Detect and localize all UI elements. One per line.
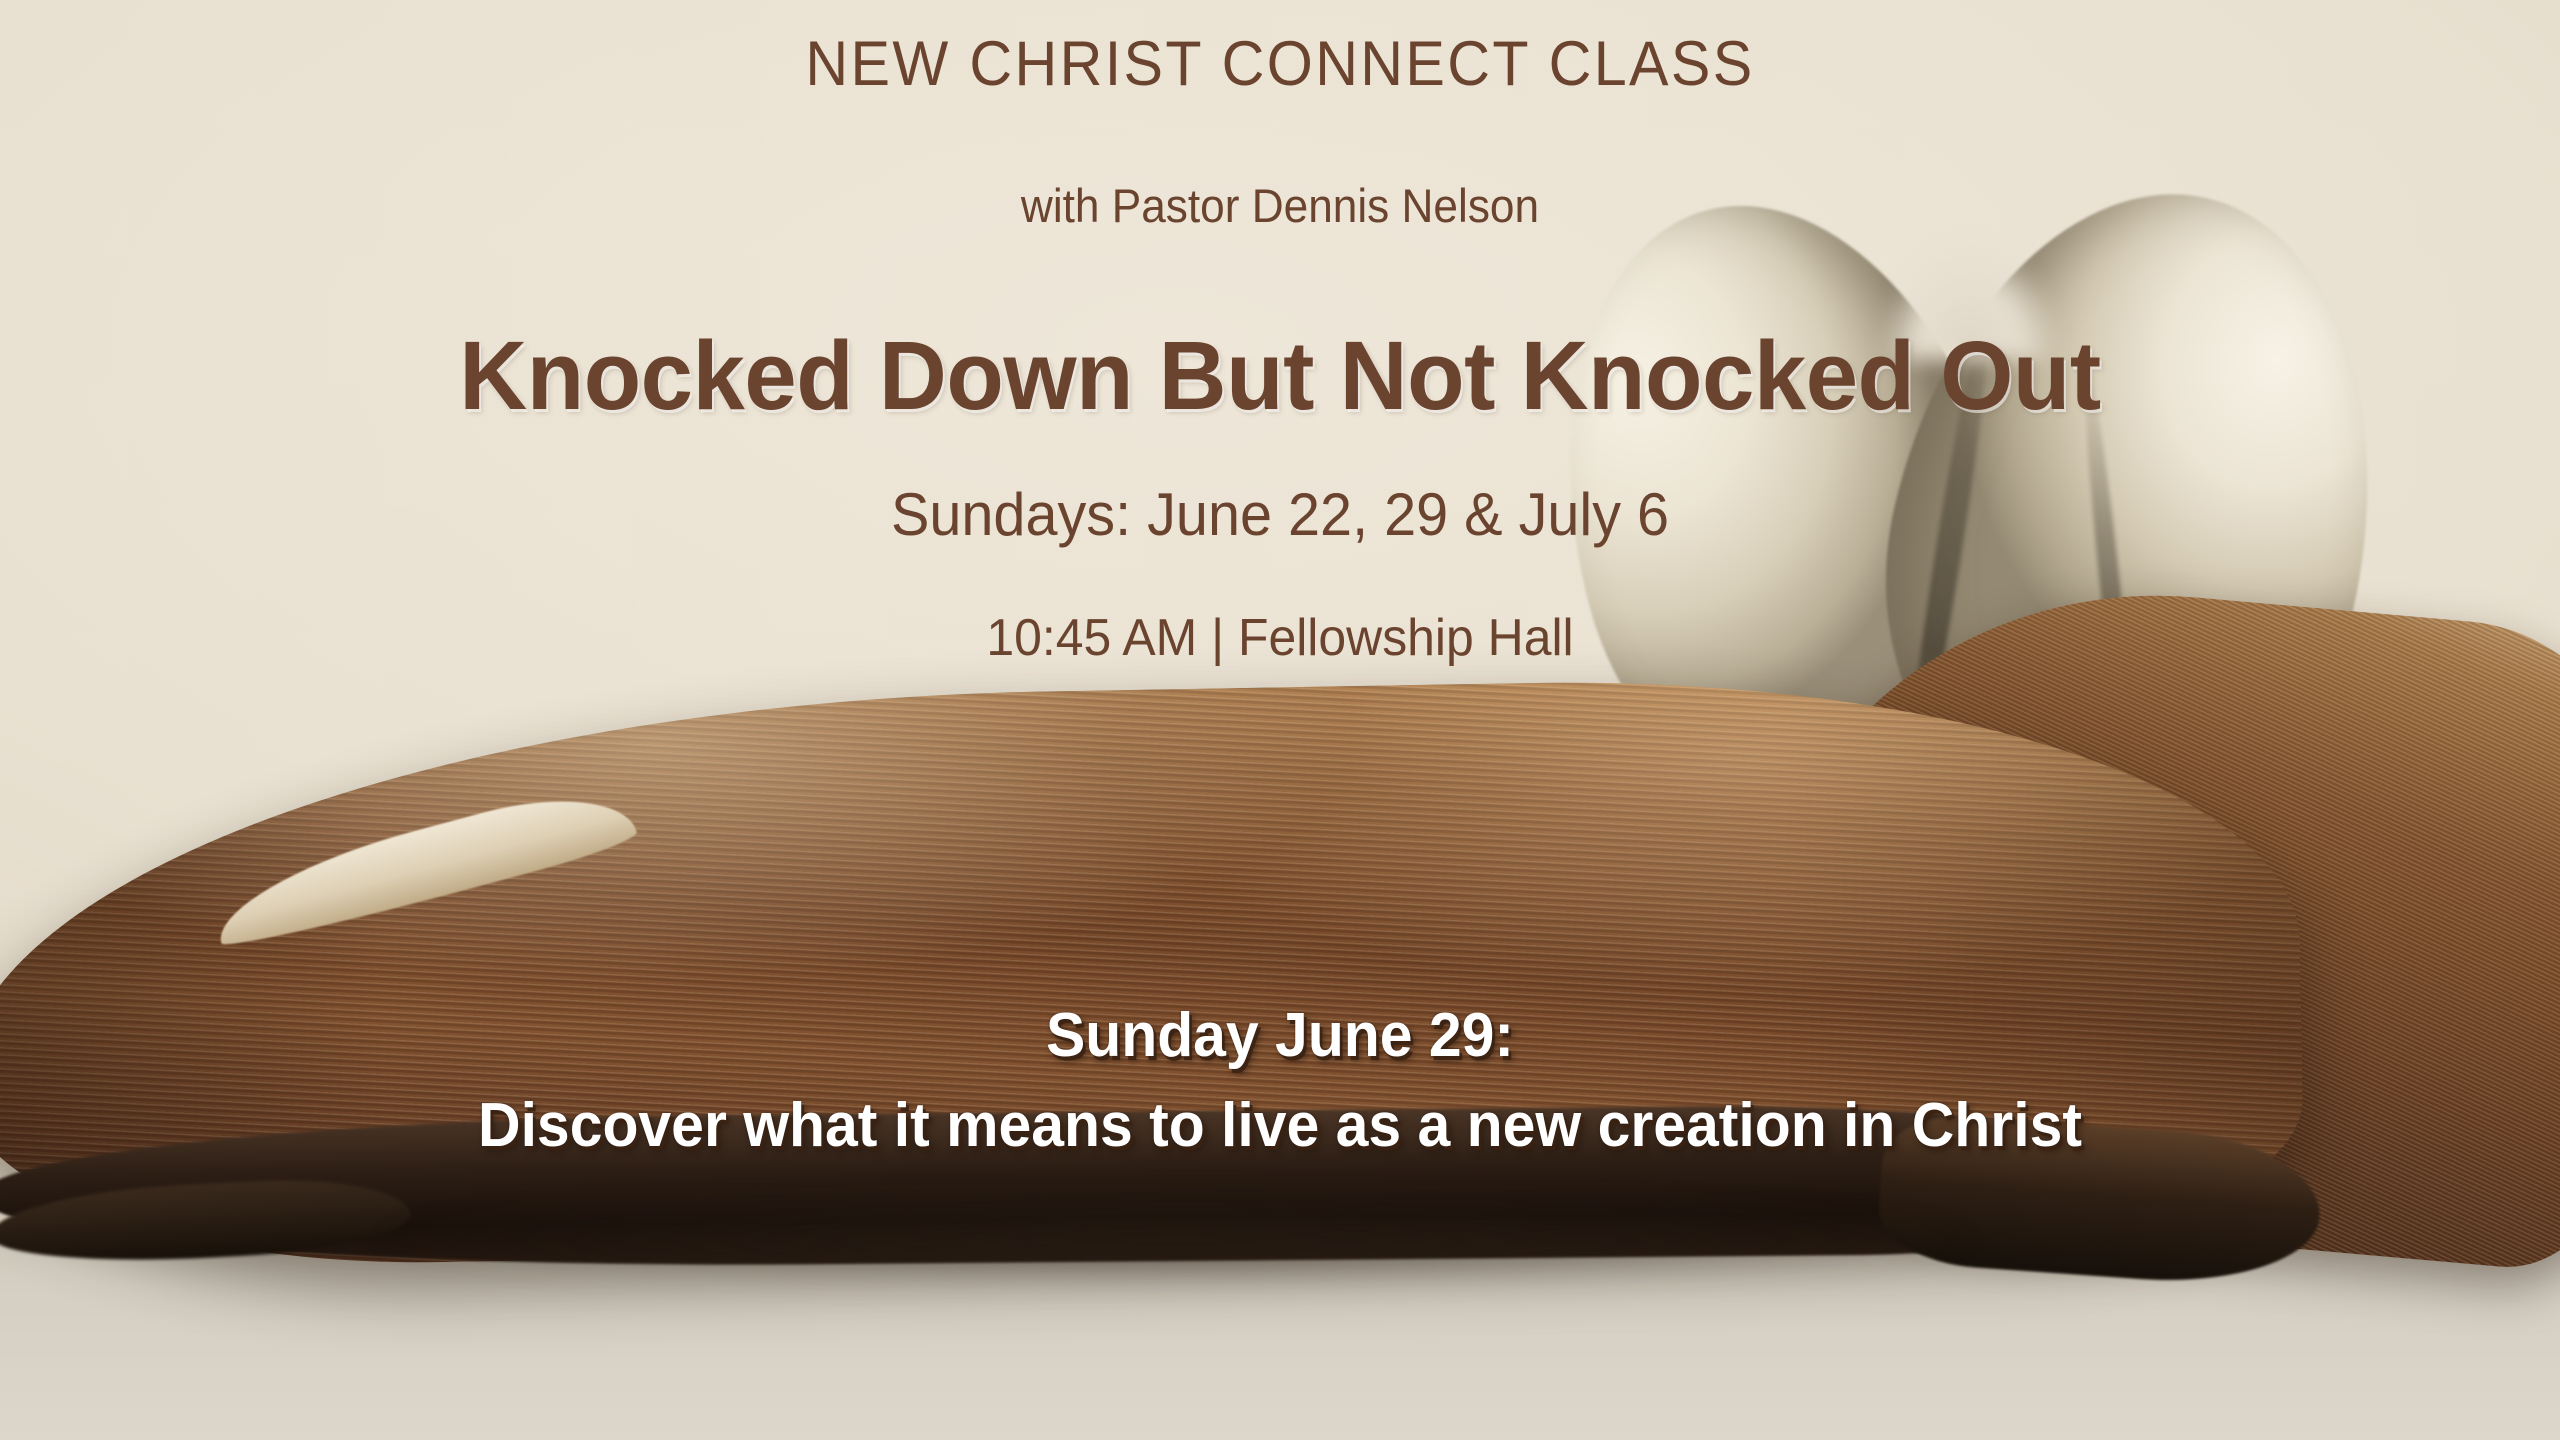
promo-poster: NEW CHRIST CONNECT CLASS with Pastor Den…: [0, 0, 2560, 1440]
presenter-line: with Pastor Dennis Nelson: [77, 178, 2483, 233]
time-and-location: 10:45 AM | Fellowship Hall: [51, 608, 2509, 668]
session-dates: Sundays: June 22, 29 & July 6: [51, 480, 2509, 549]
series-headline: Knocked Down But Not Knocked Out: [38, 320, 2521, 432]
text-overlay: NEW CHRIST CONNECT CLASS with Pastor Den…: [0, 0, 2560, 1440]
session-label: Sunday June 29:: [64, 1000, 2496, 1071]
class-title-eyebrow: NEW CHRIST CONNECT CLASS: [77, 28, 2483, 100]
session-description: Discover what it means to live as a new …: [64, 1090, 2496, 1161]
